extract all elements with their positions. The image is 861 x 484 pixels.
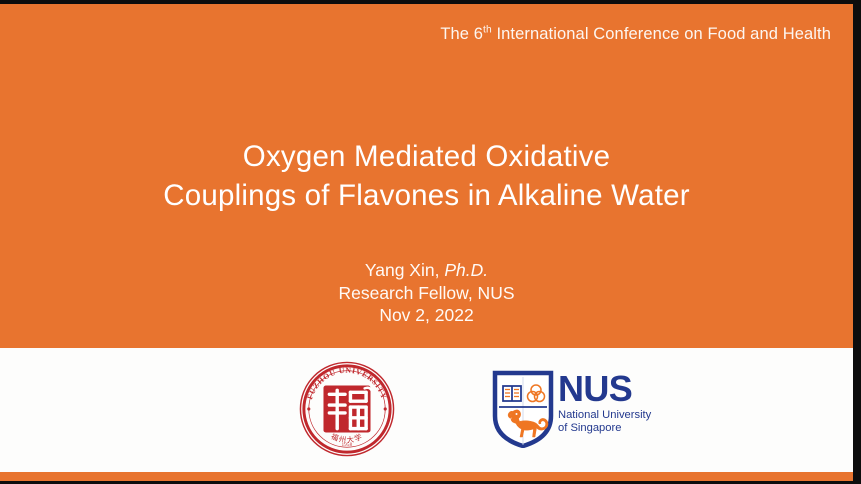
nus-shield-icon bbox=[492, 370, 554, 448]
conference-ordinal-suffix: th bbox=[483, 25, 492, 36]
title-line-2: Couplings of Flavones in Alkaline Water bbox=[0, 176, 853, 215]
nus-tagline: National University of Singapore bbox=[558, 409, 670, 436]
logo-row: FUZHOU UNIVERSITY 福州大学 1958 bbox=[0, 348, 853, 472]
svg-text:福州大学: 福州大学 bbox=[330, 432, 365, 445]
slide-canvas: The 6th International Conference on Food… bbox=[0, 4, 853, 481]
slide-byline: Yang Xin, Ph.D. Research Fellow, NUS Nov… bbox=[0, 259, 853, 327]
nus-wordmark-text: NUS bbox=[558, 371, 670, 407]
svg-text:1958: 1958 bbox=[342, 443, 353, 448]
nus-tagline-line-1: National University bbox=[558, 409, 670, 422]
conference-header-rest: International Conference on Food and Hea… bbox=[492, 25, 831, 43]
conference-header: The 6th International Conference on Food… bbox=[440, 25, 831, 44]
title-line-1: Oxygen Mediated Oxidative bbox=[0, 137, 853, 176]
nus-tagline-line-2: of Singapore bbox=[558, 422, 670, 435]
orange-footer-band bbox=[0, 472, 853, 481]
presenter-name: Yang Xin, bbox=[365, 260, 440, 280]
nus-logo: NUS National University of Singapore bbox=[492, 370, 668, 450]
presentation-slide-frame: The 6th International Conference on Food… bbox=[0, 0, 861, 484]
fuzhou-university-seal-icon: FUZHOU UNIVERSITY 福州大学 1958 bbox=[298, 360, 396, 458]
nus-wordmark-block: NUS National University of Singapore bbox=[558, 371, 670, 436]
slide-title: Oxygen Mediated Oxidative Couplings of F… bbox=[0, 137, 853, 215]
byline-presenter: Yang Xin, Ph.D. bbox=[0, 259, 853, 282]
presenter-degree: Ph.D. bbox=[444, 260, 488, 280]
byline-date: Nov 2, 2022 bbox=[0, 304, 853, 327]
conference-header-prefix: The 6 bbox=[440, 25, 483, 43]
byline-affiliation: Research Fellow, NUS bbox=[0, 282, 853, 305]
